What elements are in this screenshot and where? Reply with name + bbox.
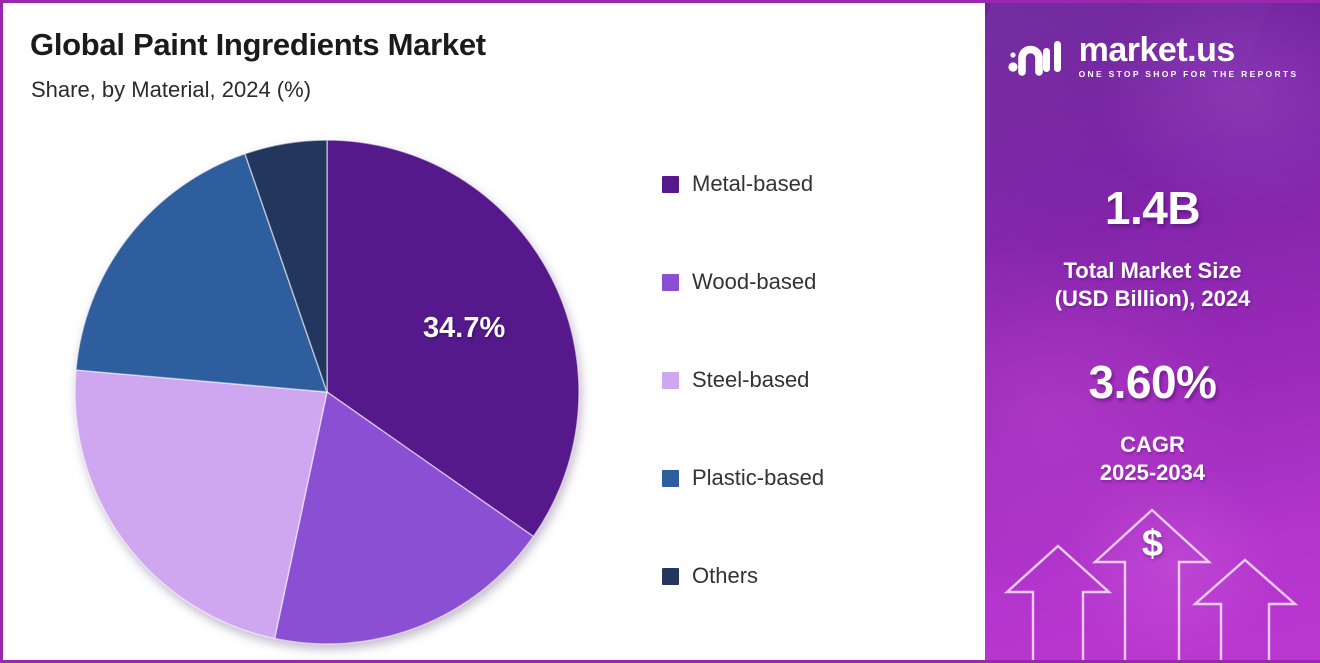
page-subtitle: Share, by Material, 2024 (%) bbox=[31, 77, 311, 103]
logo-mark-icon bbox=[1007, 34, 1069, 78]
page-title: Global Paint Ingredients Market bbox=[30, 27, 486, 63]
pie-svg bbox=[71, 136, 583, 648]
legend-swatch-icon bbox=[662, 372, 679, 389]
pie-slice-label-metal-based: 34.7% bbox=[423, 312, 505, 345]
legend-swatch-icon bbox=[662, 568, 679, 585]
chart-panel: Global Paint Ingredients Market Share, b… bbox=[3, 3, 985, 660]
legend-swatch-icon bbox=[662, 176, 679, 193]
legend-item-others[interactable]: Others bbox=[662, 527, 972, 625]
logo-tagline: ONE STOP SHOP FOR THE REPORTS bbox=[1079, 70, 1299, 79]
market-size-caption-line1: Total Market Size bbox=[985, 257, 1320, 285]
legend-item-label: Metal-based bbox=[692, 171, 813, 197]
market-size-value: 1.4B bbox=[985, 181, 1320, 235]
legend-item-metal-based[interactable]: Metal-based bbox=[662, 135, 972, 233]
legend-item-label: Plastic-based bbox=[692, 465, 824, 491]
legend-swatch-icon bbox=[662, 470, 679, 487]
legend-item-plastic-based[interactable]: Plastic-based bbox=[662, 429, 972, 527]
legend-item-steel-based[interactable]: Steel-based bbox=[662, 331, 972, 429]
legend-swatch-icon bbox=[662, 274, 679, 291]
legend-item-wood-based[interactable]: Wood-based bbox=[662, 233, 972, 331]
legend-item-label: Wood-based bbox=[692, 269, 816, 295]
logo-text: market.us ONE STOP SHOP FOR THE REPORTS bbox=[1079, 33, 1299, 79]
pie-chart: 34.7% bbox=[71, 136, 583, 648]
growth-arrows-icon bbox=[985, 500, 1320, 660]
market-size-caption-line2: (USD Billion), 2024 bbox=[985, 285, 1320, 313]
market-us-logo: market.us ONE STOP SHOP FOR THE REPORTS bbox=[985, 33, 1320, 79]
cagr-caption-line2: 2025-2034 bbox=[985, 459, 1320, 487]
infographic-frame: Global Paint Ingredients Market Share, b… bbox=[0, 0, 1320, 663]
logo-name: market.us bbox=[1079, 33, 1299, 67]
chart-legend: Metal-basedWood-basedSteel-basedPlastic-… bbox=[662, 135, 972, 625]
brand-panel: market.us ONE STOP SHOP FOR THE REPORTS … bbox=[985, 3, 1320, 660]
cagr-caption: CAGR 2025-2034 bbox=[985, 431, 1320, 487]
cagr-value: 3.60% bbox=[985, 355, 1320, 409]
legend-item-label: Steel-based bbox=[692, 367, 809, 393]
cagr-caption-line1: CAGR bbox=[985, 431, 1320, 459]
legend-item-label: Others bbox=[692, 563, 758, 589]
market-size-caption: Total Market Size (USD Billion), 2024 bbox=[985, 257, 1320, 313]
